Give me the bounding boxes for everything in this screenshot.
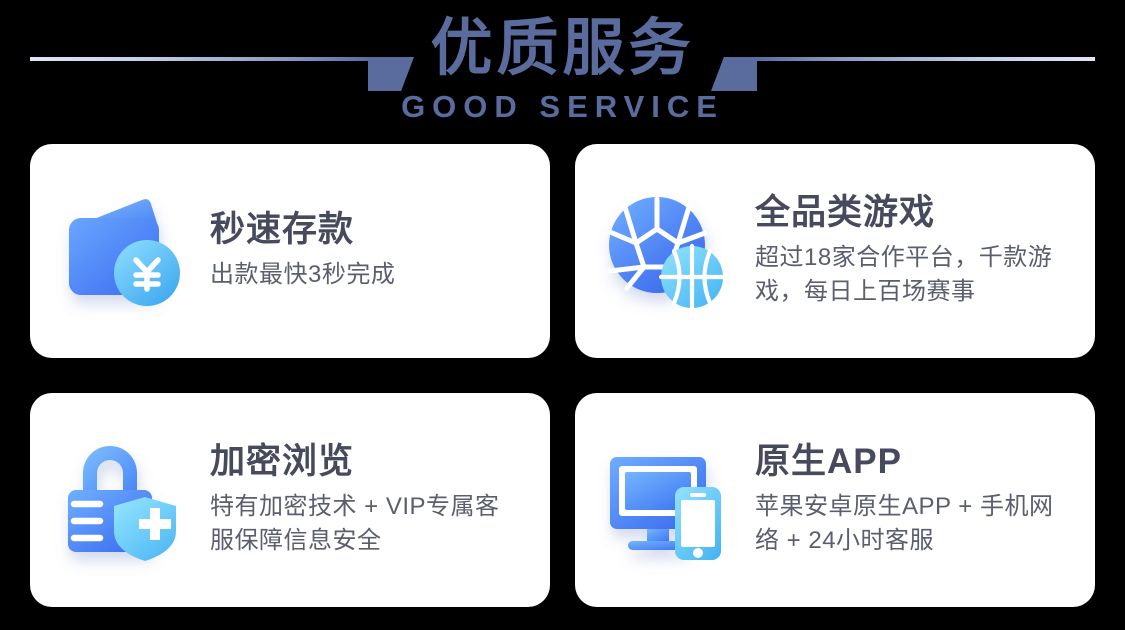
rule-line-left (30, 57, 370, 61)
card-description: 出款最快3秒完成 (210, 258, 524, 292)
page-header: 优质服务 GOOD SERVICE (0, 0, 1125, 144)
feature-card[interactable]: 加密浏览 特有加密技术 + VIP专属客服保障信息安全 (30, 393, 550, 607)
card-text-block: 加密浏览 特有加密技术 + VIP专属客服保障信息安全 (210, 442, 524, 557)
decorative-rule-left (30, 57, 416, 61)
page-subtitle: GOOD SERVICE (401, 89, 724, 125)
wallet-icon (56, 185, 188, 317)
card-title: 全品类游戏 (755, 193, 1069, 233)
card-title: 秒速存款 (210, 210, 524, 250)
card-text-block: 原生APP 苹果安卓原生APP + 手机网络 + 24小时客服 (755, 442, 1069, 557)
monitor-phone-icon (601, 434, 733, 566)
card-title: 加密浏览 (210, 442, 524, 482)
feature-card[interactable]: 全品类游戏 超过18家合作平台，千款游戏，每日上百场赛事 (575, 144, 1095, 358)
card-description: 苹果安卓原生APP + 手机网络 + 24小时客服 (755, 490, 1069, 558)
card-description: 超过18家合作平台，千款游戏，每日上百场赛事 (755, 241, 1069, 309)
card-text-block: 全品类游戏 超过18家合作平台，千款游戏，每日上百场赛事 (755, 193, 1069, 308)
rule-slab-left (368, 57, 414, 91)
card-title: 原生APP (755, 442, 1069, 482)
decorative-rule-right (709, 57, 1095, 61)
lock-shield-icon (56, 434, 188, 566)
rule-line-right (755, 57, 1095, 61)
page-title: 优质服务 (430, 12, 694, 85)
feature-card[interactable]: 原生APP 苹果安卓原生APP + 手机网络 + 24小时客服 (575, 393, 1095, 607)
feature-card-grid: 秒速存款 出款最快3秒完成 (0, 144, 1125, 607)
rule-slab-right (711, 57, 757, 91)
card-description: 特有加密技术 + VIP专属客服保障信息安全 (210, 490, 524, 558)
feature-card[interactable]: 秒速存款 出款最快3秒完成 (30, 144, 550, 358)
card-text-block: 秒速存款 出款最快3秒完成 (210, 210, 524, 291)
soccer-basketball-icon (601, 185, 733, 317)
